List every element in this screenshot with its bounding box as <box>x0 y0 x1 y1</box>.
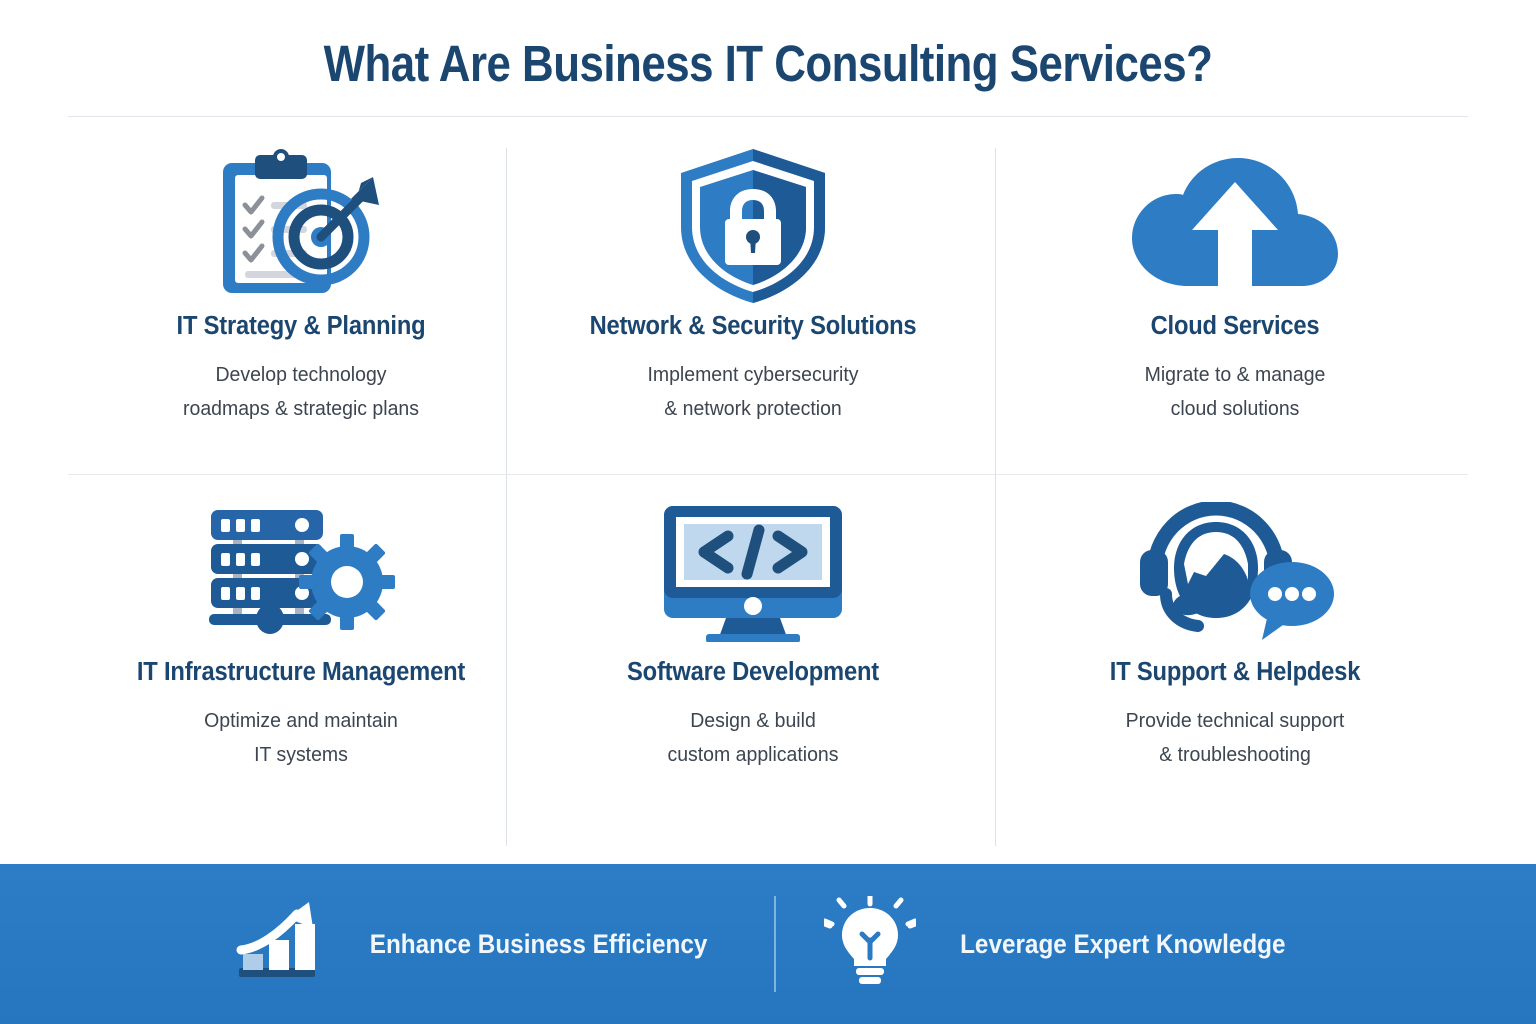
monitor-code-icon <box>520 486 986 658</box>
service-description-line-1: Design & build <box>532 704 975 738</box>
service-card-software-development[interactable]: Software Development Design & build cust… <box>520 486 986 772</box>
service-description-line-1: Implement cybersecurity <box>532 358 975 392</box>
footer-label: Leverage Expert Knowledge <box>960 929 1285 960</box>
service-description: Optimize and maintain IT systems <box>80 704 523 772</box>
clipboard-target-icon <box>68 140 534 312</box>
service-description-line-2: IT systems <box>80 738 523 772</box>
headset-support-icon <box>1002 486 1468 658</box>
service-description-line-2: custom applications <box>532 738 975 772</box>
service-title: Software Development <box>536 658 969 687</box>
service-description: Implement cybersecurity & network protec… <box>532 358 975 426</box>
server-gear-icon <box>68 486 534 658</box>
service-description-line-1: Migrate to & manage <box>1014 358 1457 392</box>
page-title: What Are Business IT Consulting Services… <box>108 34 1429 93</box>
service-description-line-2: cloud solutions <box>1014 392 1457 426</box>
service-card-it-strategy[interactable]: IT Strategy & Planning Develop technolog… <box>68 140 534 426</box>
services-grid: IT Strategy & Planning Develop technolog… <box>68 128 1468 828</box>
grid-vertical-divider-2 <box>995 148 996 846</box>
growth-chart-icon <box>233 896 325 993</box>
grid-horizontal-divider <box>68 474 1468 475</box>
footer-divider <box>774 896 776 992</box>
service-description: Provide technical support & troubleshoot… <box>1014 704 1457 772</box>
service-title: Network & Security Solutions <box>536 312 969 341</box>
service-description: Develop technology roadmaps & strategic … <box>80 358 523 426</box>
service-description: Migrate to & manage cloud solutions <box>1014 358 1457 426</box>
lightbulb-icon <box>824 896 916 993</box>
service-card-it-support[interactable]: IT Support & Helpdesk Provide technical … <box>1002 486 1468 772</box>
footer-item-expertise[interactable]: Leverage Expert Knowledge <box>824 896 1304 993</box>
cloud-upload-icon <box>1002 140 1468 312</box>
header: What Are Business IT Consulting Services… <box>0 0 1536 118</box>
header-divider <box>68 116 1468 117</box>
service-title: IT Support & Helpdesk <box>1018 658 1451 687</box>
service-description-line-1: Optimize and maintain <box>80 704 523 738</box>
shield-lock-icon <box>520 140 986 312</box>
service-description-line-2: roadmaps & strategic plans <box>80 392 523 426</box>
service-card-network-security[interactable]: Network & Security Solutions Implement c… <box>520 140 986 426</box>
service-description-line-2: & troubleshooting <box>1014 738 1457 772</box>
service-description: Design & build custom applications <box>532 704 975 772</box>
service-card-it-infrastructure[interactable]: IT Infrastructure Management Optimize an… <box>68 486 534 772</box>
service-title: Cloud Services <box>1018 312 1451 341</box>
service-card-cloud-services[interactable]: Cloud Services Migrate to & manage cloud… <box>1002 140 1468 426</box>
service-description-line-1: Provide technical support <box>1014 704 1457 738</box>
infographic-page: What Are Business IT Consulting Services… <box>0 0 1536 1024</box>
service-title: IT Infrastructure Management <box>84 658 517 687</box>
service-title: IT Strategy & Planning <box>84 312 517 341</box>
footer-item-efficiency[interactable]: Enhance Business Efficiency <box>233 896 726 993</box>
service-description-line-2: & network protection <box>532 392 975 426</box>
footer-label: Enhance Business Efficiency <box>369 929 707 960</box>
service-description-line-1: Develop technology <box>80 358 523 392</box>
footer-banner: Enhance Business Efficiency <box>0 864 1536 1024</box>
